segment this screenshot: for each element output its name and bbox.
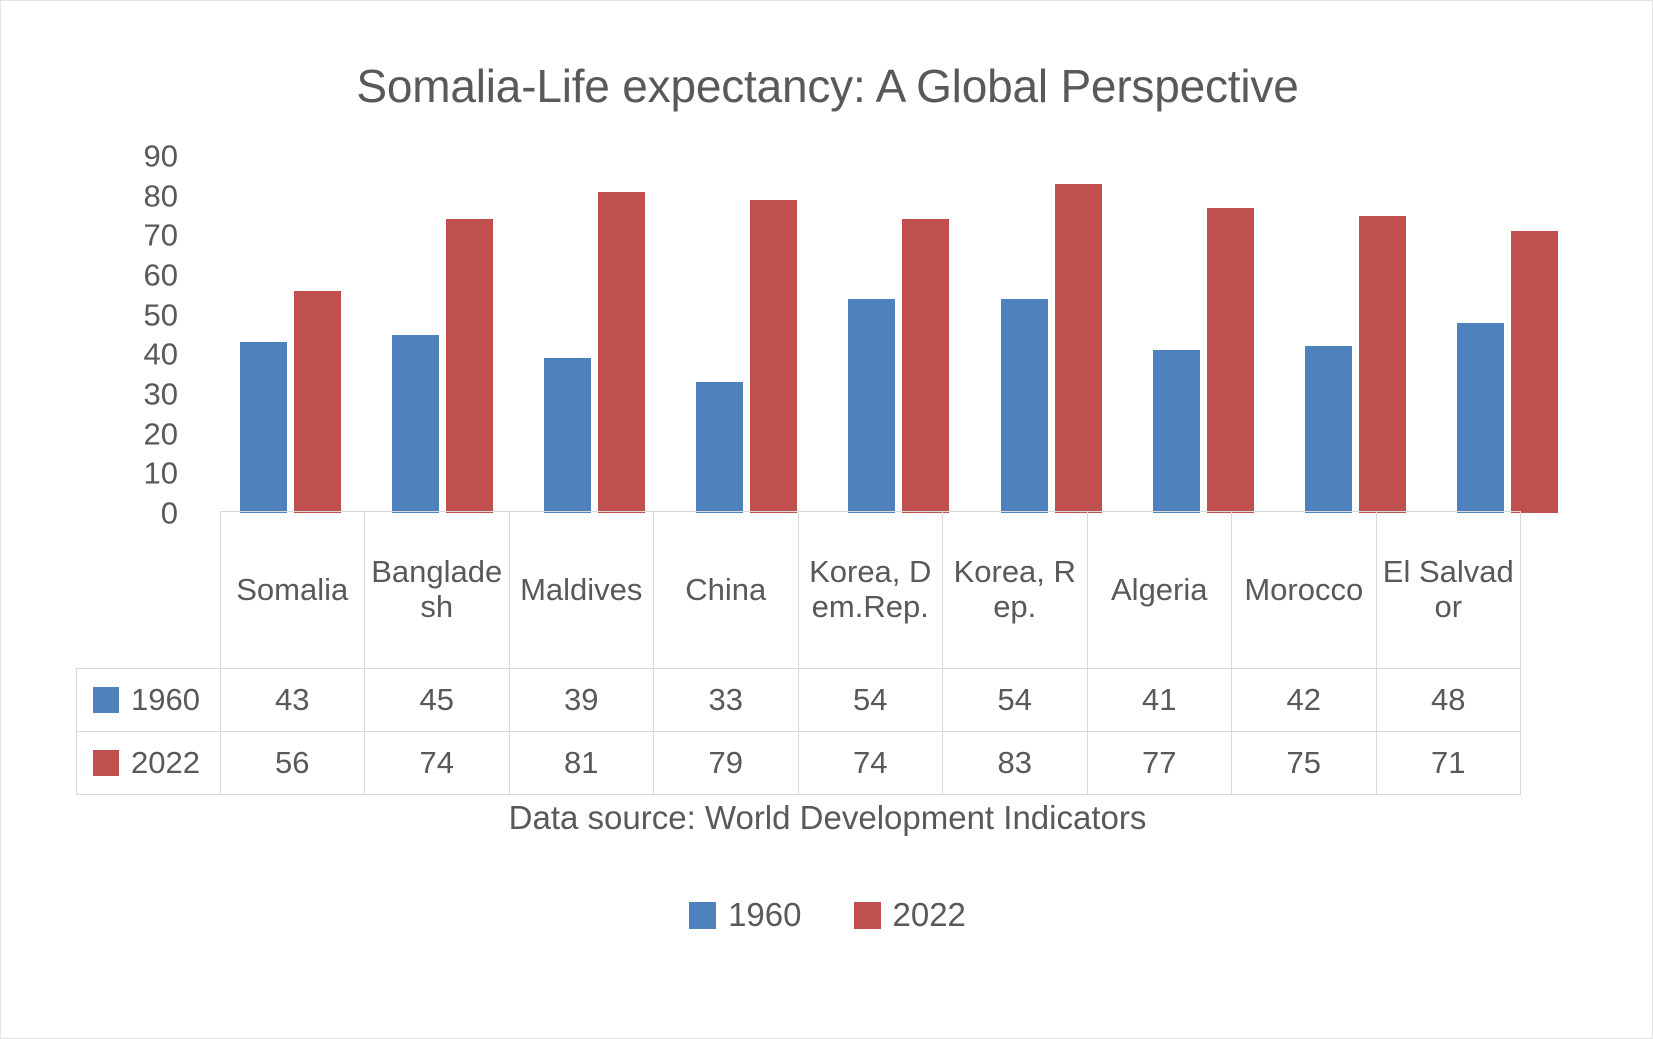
table-series-label: 1960 bbox=[77, 669, 221, 732]
bar-2022[interactable] bbox=[1055, 184, 1102, 513]
table-cell: 41 bbox=[1087, 669, 1232, 732]
bar-2022[interactable] bbox=[1511, 231, 1558, 513]
table-cell: 75 bbox=[1232, 732, 1377, 795]
table-column-header: Maldives bbox=[509, 512, 654, 669]
bar-1960[interactable] bbox=[1457, 323, 1504, 513]
table-cell: 71 bbox=[1376, 732, 1521, 795]
y-axis-tick-30: 30 bbox=[144, 379, 178, 410]
bar-1960[interactable] bbox=[1305, 346, 1352, 513]
table-column-header: El Salvador bbox=[1376, 512, 1521, 669]
chart-data-table: SomaliaBangladeshMaldivesChinaKorea, Dem… bbox=[76, 511, 1521, 795]
y-axis-tick-50: 50 bbox=[144, 299, 178, 330]
series-color-swatch-icon bbox=[93, 750, 119, 776]
table-column-header: Morocco bbox=[1232, 512, 1377, 669]
table-cell: 79 bbox=[654, 732, 799, 795]
table-series-label: 2022 bbox=[77, 732, 221, 795]
y-axis-tick-90: 90 bbox=[144, 141, 178, 172]
table-column-header: Korea, Dem.Rep. bbox=[798, 512, 943, 669]
y-axis: 9080706050403020100 bbox=[111, 149, 186, 519]
bar-2022[interactable] bbox=[1207, 208, 1254, 513]
table-row: 1960434539335454414248 bbox=[77, 669, 1521, 732]
bar-group bbox=[823, 156, 975, 513]
table-cell: 33 bbox=[654, 669, 799, 732]
bar-group bbox=[518, 156, 670, 513]
legend-item-1960[interactable]: 1960 bbox=[689, 896, 801, 934]
bar-1960[interactable] bbox=[544, 358, 591, 513]
bar-1960[interactable] bbox=[1153, 350, 1200, 513]
data-source-note: Data source: World Development Indicator… bbox=[1, 799, 1653, 837]
legend-color-swatch-icon bbox=[689, 902, 716, 929]
bar-1960[interactable] bbox=[848, 299, 895, 513]
bar-1960[interactable] bbox=[240, 342, 287, 513]
table-cell: 39 bbox=[509, 669, 654, 732]
bar-2022[interactable] bbox=[1359, 216, 1406, 514]
bar-group bbox=[214, 156, 366, 513]
bar-2022[interactable] bbox=[750, 200, 797, 513]
table-cell: 45 bbox=[365, 669, 510, 732]
legend-label: 1960 bbox=[728, 896, 801, 934]
bar-group bbox=[1127, 156, 1279, 513]
y-axis-tick-60: 60 bbox=[144, 260, 178, 291]
series-label-text: 1960 bbox=[131, 682, 200, 718]
bar-group bbox=[1432, 156, 1584, 513]
series-label-text: 2022 bbox=[131, 745, 200, 781]
y-axis-tick-20: 20 bbox=[144, 418, 178, 449]
bar-group bbox=[1280, 156, 1432, 513]
y-axis-tick-70: 70 bbox=[144, 220, 178, 251]
table-cell: 74 bbox=[798, 732, 943, 795]
bar-2022[interactable] bbox=[598, 192, 645, 513]
table-corner-cell bbox=[77, 512, 221, 669]
bar-1960[interactable] bbox=[1001, 299, 1048, 513]
series-color-swatch-icon bbox=[93, 687, 119, 713]
chart-canvas: Somalia-Life expectancy: A Global Perspe… bbox=[0, 0, 1653, 1039]
table-cell: 48 bbox=[1376, 669, 1521, 732]
table-column-header: China bbox=[654, 512, 799, 669]
table-row: 2022567481797483777571 bbox=[77, 732, 1521, 795]
y-axis-tick-80: 80 bbox=[144, 180, 178, 211]
table-cell: 54 bbox=[798, 669, 943, 732]
bar-group bbox=[671, 156, 823, 513]
table-cell: 56 bbox=[220, 732, 365, 795]
table-cell: 77 bbox=[1087, 732, 1232, 795]
table-column-header: Bangladesh bbox=[365, 512, 510, 669]
bar-group bbox=[975, 156, 1127, 513]
table-cell: 81 bbox=[509, 732, 654, 795]
bar-1960[interactable] bbox=[696, 382, 743, 513]
table-cell: 43 bbox=[220, 669, 365, 732]
bar-series-container bbox=[214, 156, 1584, 513]
bar-2022[interactable] bbox=[446, 219, 493, 513]
legend-label: 2022 bbox=[893, 896, 966, 934]
table-column-header: Korea, Rep. bbox=[943, 512, 1088, 669]
plot-area bbox=[186, 156, 1606, 513]
table-column-header: Algeria bbox=[1087, 512, 1232, 669]
bar-group bbox=[366, 156, 518, 513]
table-cell: 54 bbox=[943, 669, 1088, 732]
bar-2022[interactable] bbox=[294, 291, 341, 513]
y-axis-tick-10: 10 bbox=[144, 458, 178, 489]
page-title: Somalia-Life expectancy: A Global Perspe… bbox=[1, 59, 1653, 113]
legend-color-swatch-icon bbox=[854, 902, 881, 929]
chart-legend: 19602022 bbox=[1, 896, 1653, 934]
legend-item-2022[interactable]: 2022 bbox=[854, 896, 966, 934]
bar-1960[interactable] bbox=[392, 335, 439, 514]
table-header-row: SomaliaBangladeshMaldivesChinaKorea, Dem… bbox=[77, 512, 1521, 669]
y-axis-tick-40: 40 bbox=[144, 339, 178, 370]
table-cell: 42 bbox=[1232, 669, 1377, 732]
table-cell: 74 bbox=[365, 732, 510, 795]
table-column-header: Somalia bbox=[220, 512, 365, 669]
bar-2022[interactable] bbox=[902, 219, 949, 513]
table-cell: 83 bbox=[943, 732, 1088, 795]
